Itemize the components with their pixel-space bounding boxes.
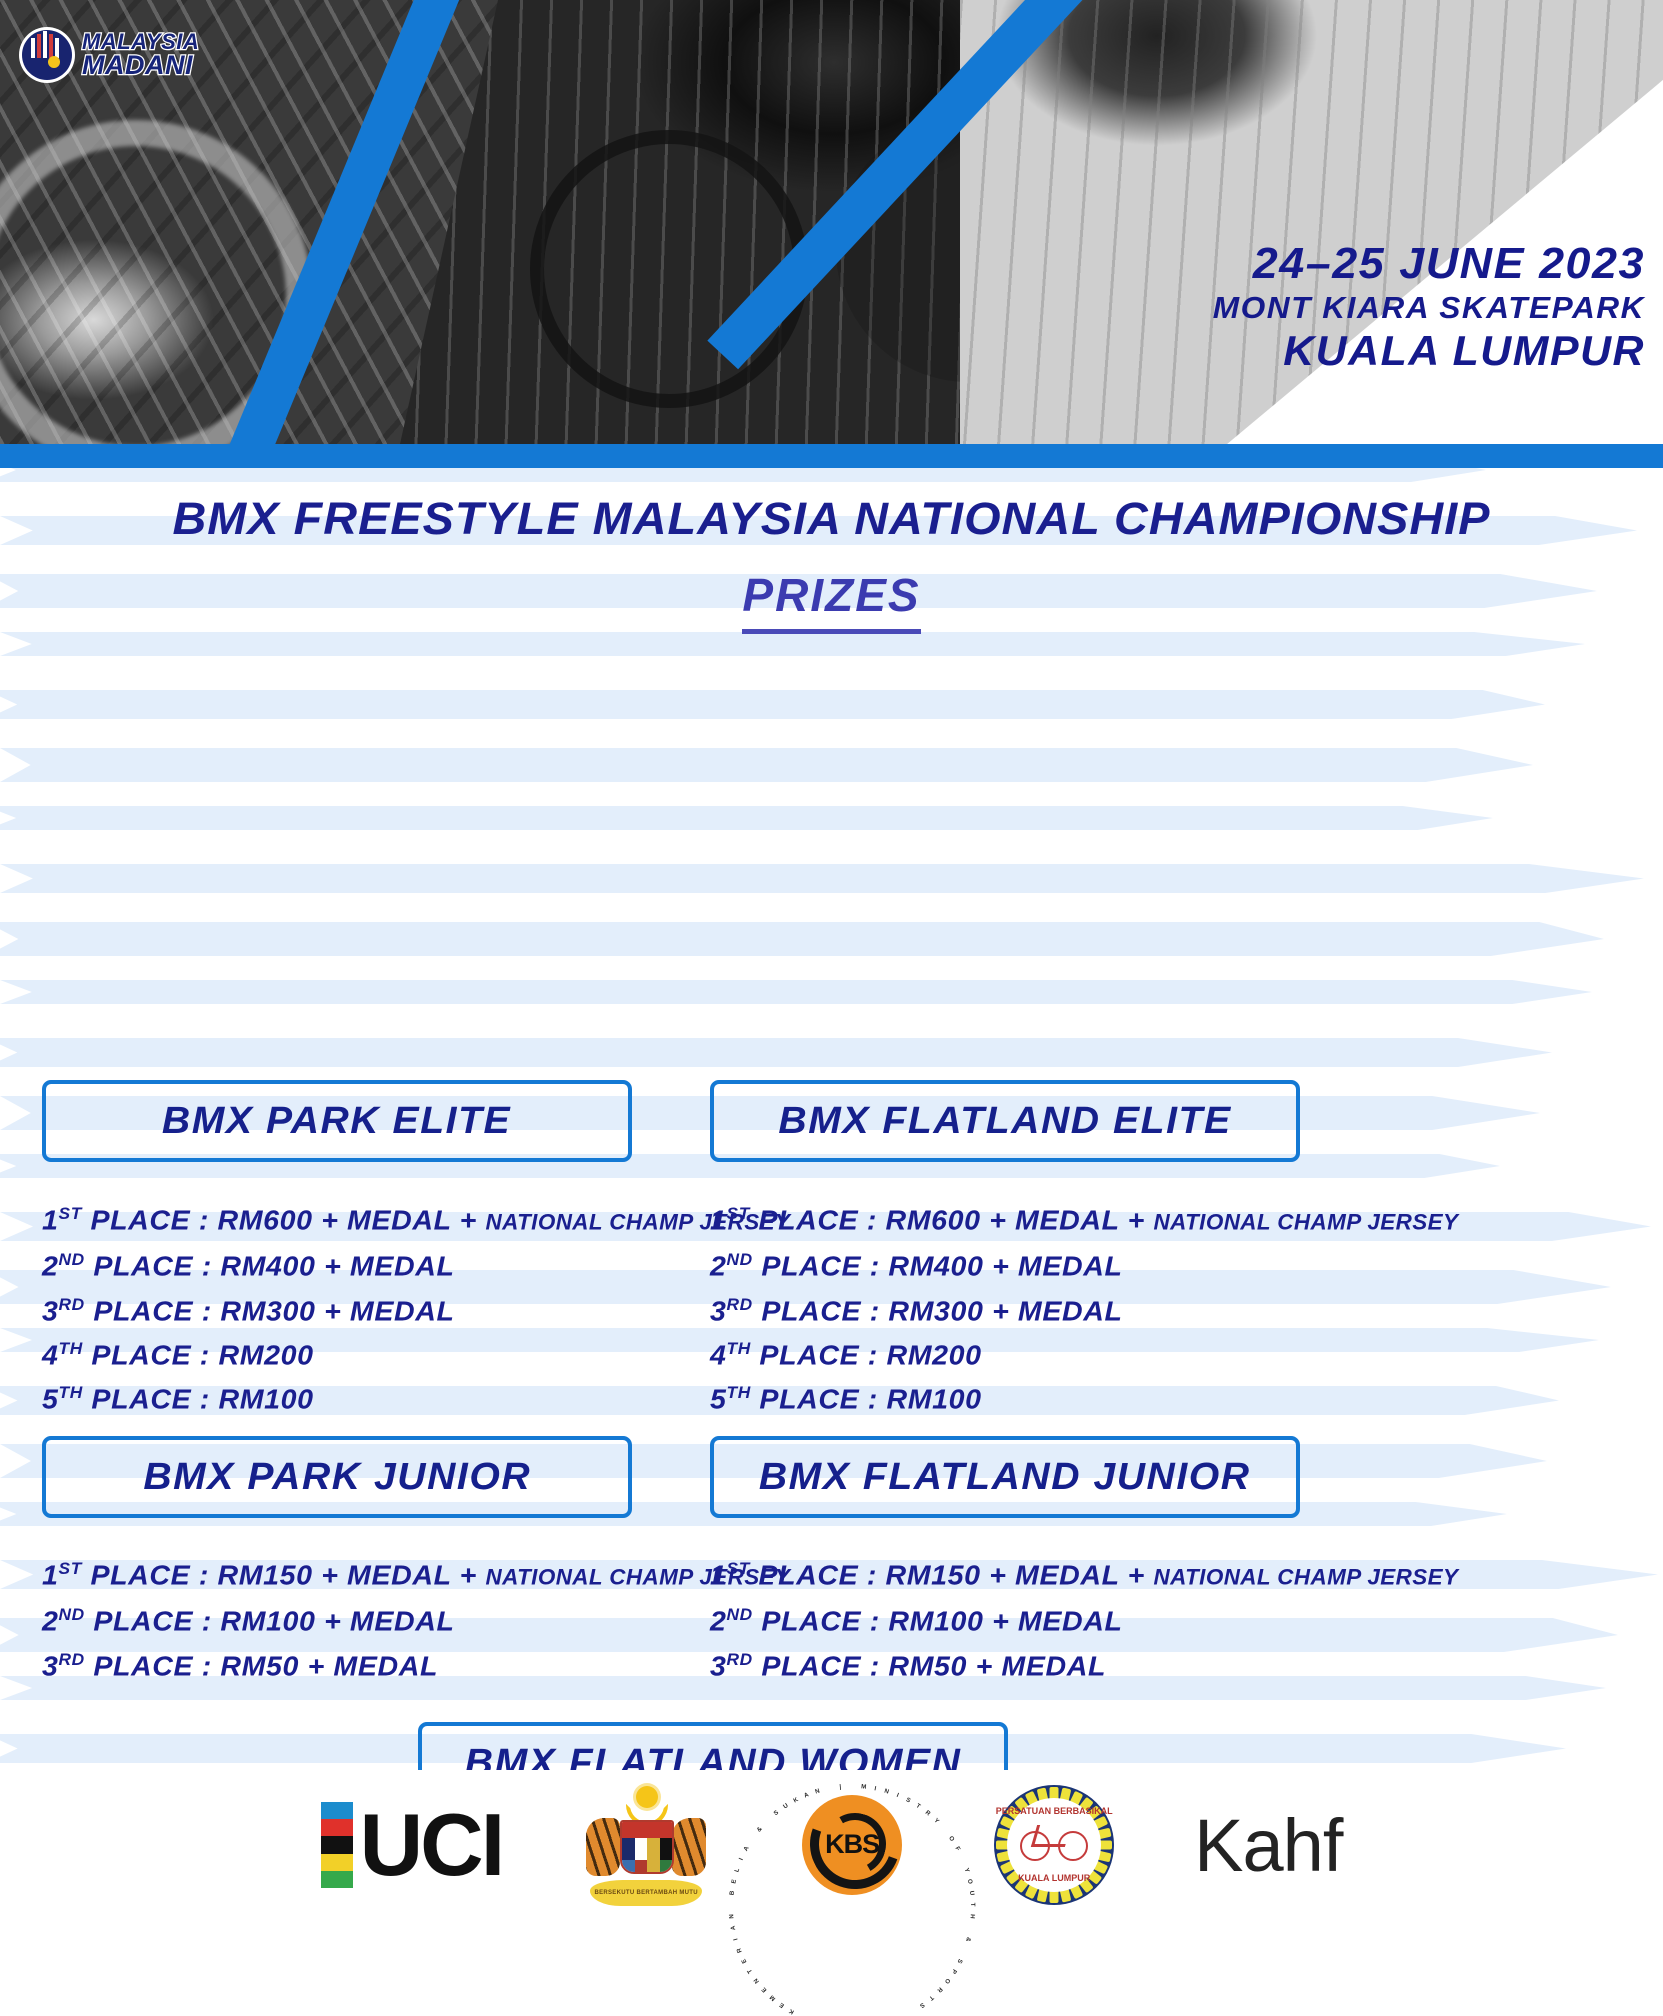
category-title: BMX FLATLAND ELITE <box>778 1100 1231 1143</box>
kbs-ring-char: L <box>734 1867 742 1873</box>
jata-negara-crest-icon: BERSEKUTU BERTAMBAH MUTU <box>582 1784 710 1906</box>
prize-label: PLACE : RM50 + MEDAL <box>85 1650 438 1681</box>
madani-line-2: MADANI <box>82 53 199 78</box>
sponsor-pbkl: PERSATUAN BERBASIKAL KUALA LUMPUR <box>994 1785 1114 1905</box>
prize-rank: 3 <box>710 1295 727 1326</box>
kbs-ring-char: I <box>874 1785 877 1792</box>
prize-label: PLACE : RM600 + MEDAL + <box>82 1204 486 1235</box>
hero-banner: MALAYSIA MADANI 24–25 JUNE 2023 MONT KIA… <box>0 0 1663 468</box>
hero-photo-collage <box>0 0 1663 444</box>
crest-motto-text: BERSEKUTU BERTAMBAH MUTU <box>590 1880 702 1906</box>
crest-shield-icon <box>620 1820 674 1874</box>
uci-rainbow-bars-icon <box>321 1802 353 1888</box>
prize-row: 1ST PLACE : RM600 + MEDAL + NATIONAL CHA… <box>710 1195 1458 1241</box>
kbs-ring-char: F <box>954 1845 962 1852</box>
prize-label: PLACE : RM300 + MEDAL <box>753 1295 1123 1326</box>
kahf-wordmark: Kahf <box>1194 1803 1342 1888</box>
kbs-ring-char: O <box>966 1878 974 1884</box>
prize-rank: 1 <box>42 1559 59 1590</box>
prize-rank-suffix: TH <box>727 1383 751 1402</box>
kbs-ring-char: K <box>792 1796 799 1804</box>
prize-label: PLACE : RM600 + MEDAL + <box>750 1204 1154 1235</box>
prize-label: PLACE : RM300 + MEDAL <box>85 1295 455 1326</box>
prizes-heading: PRIZES <box>742 568 920 634</box>
prize-row: 1ST PLACE : RM150 + MEDAL + NATIONAL CHA… <box>710 1550 1458 1596</box>
kbs-logo: KEMENTERIAN BELIA & SUKAN | MINISTRY OF … <box>790 1783 914 1907</box>
category-title: BMX FLATLAND JUNIOR <box>759 1456 1251 1499</box>
event-venue: MONT KIARA SKATEPARK <box>1213 290 1645 327</box>
kbs-ring-char: E <box>740 1958 748 1965</box>
sponsor-kbs: KEMENTERIAN BELIA & SUKAN | MINISTRY OF … <box>790 1783 914 1907</box>
kbs-ring-char: R <box>924 1809 932 1817</box>
kbs-ring-char: E <box>761 1986 769 1994</box>
prize-label: PLACE : RM150 + MEDAL + <box>82 1559 486 1590</box>
kbs-ring-char: S <box>773 1809 781 1817</box>
prize-row: 2ND PLACE : RM400 + MEDAL <box>42 1241 790 1285</box>
prize-rank-suffix: TH <box>59 1339 83 1358</box>
kbs-ring-char: | <box>839 1783 841 1790</box>
prize-row: 3RD PLACE : RM300 + MEDAL <box>42 1286 790 1330</box>
madani-towers-crescent-star-icon <box>18 26 76 84</box>
prize-list-bmx-park-elite: 1ST PLACE : RM600 + MEDAL + NATIONAL CHA… <box>42 1195 776 1419</box>
prize-rank: 5 <box>710 1384 727 1415</box>
prize-rank-suffix: TH <box>59 1383 83 1402</box>
kbs-wordmark: KBS <box>790 1829 914 1860</box>
kbs-ring-char: U <box>968 1890 975 1895</box>
prize-rank-suffix: ST <box>59 1559 82 1578</box>
category-title: BMX PARK ELITE <box>162 1100 511 1143</box>
prize-rank: 2 <box>42 1251 59 1282</box>
prize-rank-suffix: RD <box>727 1650 753 1669</box>
prize-row: 2ND PLACE : RM400 + MEDAL <box>710 1241 1458 1285</box>
madani-wordmark: MALAYSIA MADANI <box>82 32 199 77</box>
kbs-ring-char: K <box>788 2007 795 2015</box>
pbkl-bottom-text: KUALA LUMPUR <box>994 1873 1114 1883</box>
uci-logo: UCI <box>321 1802 503 1888</box>
kbs-ring-char: N <box>753 1977 761 1985</box>
kbs-ring-char: & <box>964 1936 972 1942</box>
prize-rank-suffix: ND <box>727 1250 753 1269</box>
prize-rank: 3 <box>710 1650 727 1681</box>
prize-rank-suffix: RD <box>59 1650 85 1669</box>
crest-tiger-right-icon <box>672 1818 706 1876</box>
kbs-ring-char: O <box>947 1835 956 1843</box>
prize-label: PLACE : RM100 + MEDAL <box>85 1606 455 1637</box>
category-box-bmx-park-elite: BMX PARK ELITE <box>42 1080 632 1162</box>
prize-label: PLACE : RM200 <box>751 1339 982 1370</box>
prize-rank-suffix: RD <box>59 1295 85 1314</box>
prize-row: 4TH PLACE : RM200 <box>42 1330 790 1374</box>
kbs-ring-char: P <box>950 1968 958 1975</box>
kbs-ring-char: O <box>943 1977 951 1985</box>
category-title: BMX PARK JUNIOR <box>143 1456 531 1499</box>
crest-motto-ribbon: BERSEKUTU BERTAMBAH MUTU <box>590 1880 702 1906</box>
prize-rank-suffix: RD <box>727 1295 753 1314</box>
prize-row: 1ST PLACE : RM150 + MEDAL + NATIONAL CHA… <box>42 1550 790 1596</box>
kbs-ring-char: & <box>756 1826 764 1834</box>
prize-rank: 1 <box>710 1559 727 1590</box>
kbs-ring-char: I <box>732 1938 739 1942</box>
prize-row: 5TH PLACE : RM100 <box>710 1374 1458 1418</box>
kbs-ring-char: A <box>803 1791 810 1799</box>
kbs-ring-char: T <box>969 1903 976 1907</box>
prize-row: 4TH PLACE : RM200 <box>710 1330 1458 1374</box>
kbs-ring-char: T <box>746 1968 754 1975</box>
prize-rank-suffix: ST <box>727 1204 750 1223</box>
category-box-bmx-flatland-junior: BMX FLATLAND JUNIOR <box>710 1436 1300 1518</box>
pbkl-cyclist-icon <box>1020 1825 1088 1863</box>
kbs-ring-char: A <box>743 1845 751 1852</box>
event-date: 24–25 JUNE 2023 <box>1213 238 1645 290</box>
prize-row: 2ND PLACE : RM100 + MEDAL <box>710 1596 1458 1640</box>
kbs-ring-char: Y <box>963 1867 971 1873</box>
pbkl-top-text: PERSATUAN BERBASIKAL <box>994 1806 1114 1816</box>
prize-list-bmx-flatland-junior: 1ST PLACE : RM150 + MEDAL + NATIONAL CHA… <box>710 1550 1444 1685</box>
kbs-ring-char: S <box>919 2001 926 2009</box>
prize-rank-suffix: TH <box>727 1339 751 1358</box>
kbs-ring-char: E <box>778 2001 785 2009</box>
prize-row: 3RD PLACE : RM50 + MEDAL <box>710 1641 1458 1685</box>
poster-content: BMX FREESTYLE MALAYSIA NATIONAL CHAMPION… <box>0 468 1663 1920</box>
prize-extra: NATIONAL CHAMP JERSEY <box>1154 1564 1459 1589</box>
prize-rank-suffix: ST <box>727 1559 750 1578</box>
prize-extra: NATIONAL CHAMP JERSEY <box>1154 1209 1459 1234</box>
kbs-ring-char: N <box>884 1788 890 1796</box>
prize-rank: 4 <box>42 1339 59 1370</box>
prize-rank: 5 <box>42 1384 59 1415</box>
kbs-ring-char: M <box>861 1783 867 1790</box>
kbs-ring-char: N <box>814 1788 820 1796</box>
kbs-ring-char: U <box>782 1802 790 1810</box>
prize-rank: 4 <box>710 1339 727 1370</box>
kbs-ring-char: N <box>728 1914 735 1919</box>
prize-rank-suffix: ND <box>59 1605 85 1624</box>
prizes-heading-wrap: PRIZES <box>0 568 1663 634</box>
prize-label: PLACE : RM100 + MEDAL <box>753 1606 1123 1637</box>
event-details: 24–25 JUNE 2023 MONT KIARA SKATEPARK KUA… <box>1217 238 1641 376</box>
prize-label: PLACE : RM100 <box>751 1384 982 1415</box>
category-box-bmx-park-junior: BMX PARK JUNIOR <box>42 1436 632 1518</box>
prize-label: PLACE : RM400 + MEDAL <box>753 1251 1123 1282</box>
prize-row: 2ND PLACE : RM100 + MEDAL <box>42 1596 790 1640</box>
kbs-ring-char: R <box>936 1986 944 1994</box>
prize-rank: 2 <box>42 1606 59 1637</box>
kbs-ring-char: A <box>730 1925 738 1931</box>
kbs-ring-char: T <box>928 1994 935 2002</box>
kbs-ring-char: B <box>729 1890 736 1895</box>
prize-label: PLACE : RM100 <box>83 1384 314 1415</box>
prize-row: 3RD PLACE : RM300 + MEDAL <box>710 1286 1458 1330</box>
kbs-ring-char: M <box>769 1993 777 2002</box>
kbs-ring-char: T <box>915 1802 922 1810</box>
prize-row: 5TH PLACE : RM100 <box>42 1374 790 1418</box>
prize-row: 3RD PLACE : RM50 + MEDAL <box>42 1641 790 1685</box>
poster-body: BMX FREESTYLE MALAYSIA NATIONAL CHAMPION… <box>0 468 1663 1920</box>
prize-label: PLACE : RM400 + MEDAL <box>85 1251 455 1282</box>
prize-label: PLACE : RM150 + MEDAL + <box>750 1559 1154 1590</box>
prize-row: 1ST PLACE : RM600 + MEDAL + NATIONAL CHA… <box>42 1195 790 1241</box>
kbs-ring-char: E <box>731 1879 739 1885</box>
malaysia-madani-logo: MALAYSIA MADANI <box>18 22 188 88</box>
prize-rank: 3 <box>42 1295 59 1326</box>
prize-rank-suffix: ND <box>727 1605 753 1624</box>
prize-rank: 3 <box>42 1650 59 1681</box>
prize-rank: 2 <box>710 1251 727 1282</box>
prize-label: PLACE : RM50 + MEDAL <box>753 1650 1106 1681</box>
prize-list-bmx-park-junior: 1ST PLACE : RM150 + MEDAL + NATIONAL CHA… <box>42 1550 776 1685</box>
pbkl-logo: PERSATUAN BERBASIKAL KUALA LUMPUR <box>994 1785 1114 1905</box>
sponsor-jata-negara: BERSEKUTU BERTAMBAH MUTU <box>582 1784 710 1906</box>
category-box-bmx-flatland-elite: BMX FLATLAND ELITE <box>710 1080 1300 1162</box>
hero-blue-band <box>0 444 1663 468</box>
kbs-ring-char: S <box>956 1958 964 1965</box>
kbs-ring-char: Y <box>933 1817 941 1825</box>
sponsor-bar: UCI BERSEKUTU BERTAMBAH MUTU KEMENTERIAN… <box>0 1770 1663 1920</box>
kbs-ring-char: I <box>738 1857 745 1861</box>
kbs-ring-char: S <box>905 1796 912 1804</box>
prize-rank: 1 <box>42 1204 59 1235</box>
prize-rank: 1 <box>710 1204 727 1235</box>
bmx-photo-right <box>960 0 1663 444</box>
page-title: BMX FREESTYLE MALAYSIA NATIONAL CHAMPION… <box>0 493 1663 545</box>
prize-rank: 2 <box>710 1606 727 1637</box>
sponsor-uci: UCI <box>321 1802 503 1888</box>
sponsor-kahf: Kahf <box>1194 1803 1342 1888</box>
prize-label: PLACE : RM200 <box>83 1339 314 1370</box>
uci-wordmark: UCI <box>360 1805 503 1884</box>
crest-tiger-left-icon <box>586 1818 620 1876</box>
event-city: KUALA LUMPUR <box>1213 326 1645 376</box>
kbs-ring-char: R <box>736 1947 744 1954</box>
prize-rank-suffix: ND <box>59 1250 85 1269</box>
prize-rank-suffix: ST <box>59 1204 82 1223</box>
prize-list-bmx-flatland-elite: 1ST PLACE : RM600 + MEDAL + NATIONAL CHA… <box>710 1195 1444 1419</box>
kbs-ring-char: I <box>896 1792 900 1799</box>
kbs-ring-char: H <box>969 1914 976 1919</box>
